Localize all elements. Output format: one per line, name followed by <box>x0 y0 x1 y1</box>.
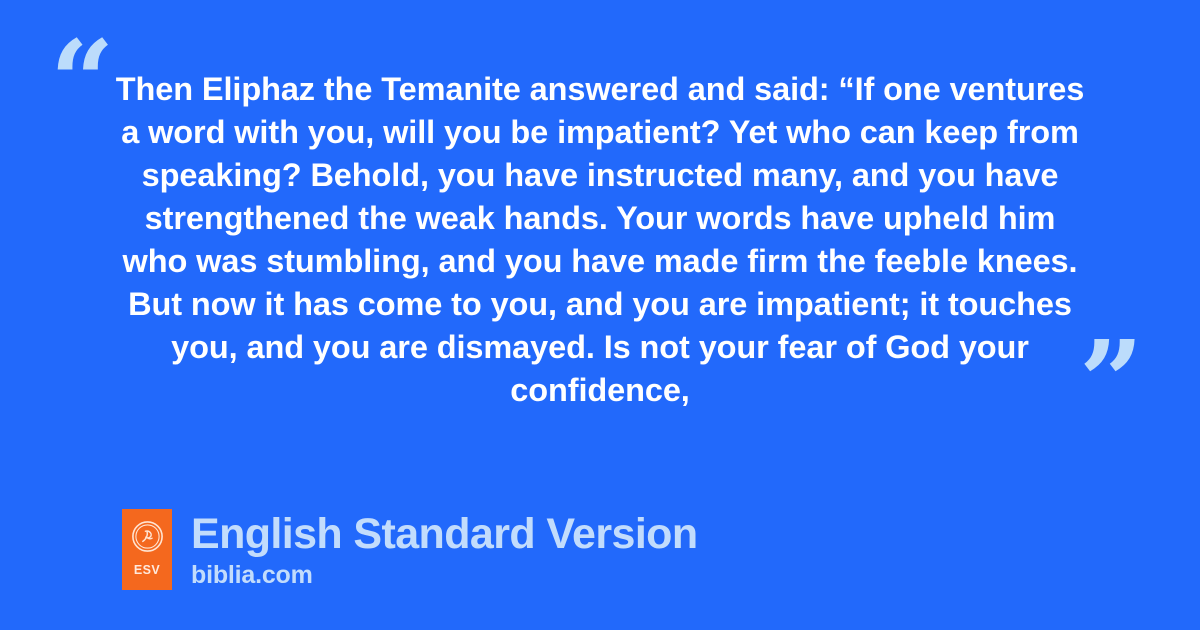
close-quote-icon: ” <box>1079 327 1141 439</box>
esv-seal-icon <box>132 521 163 552</box>
verse-card: “ Then Eliphaz the Temanite answered and… <box>0 0 1200 630</box>
open-quote-icon: “ <box>50 27 112 139</box>
attribution-text-block: English Standard Version biblia.com <box>191 509 698 589</box>
bible-version-title: English Standard Version <box>191 510 698 558</box>
site-url-label: biblia.com <box>191 561 698 589</box>
attribution-footer: ESV English Standard Version biblia.com <box>122 509 698 590</box>
esv-abbreviation-label: ESV <box>122 564 172 577</box>
esv-logo-badge: ESV <box>122 509 172 590</box>
verse-quote-text: Then Eliphaz the Temanite answered and s… <box>110 68 1090 412</box>
